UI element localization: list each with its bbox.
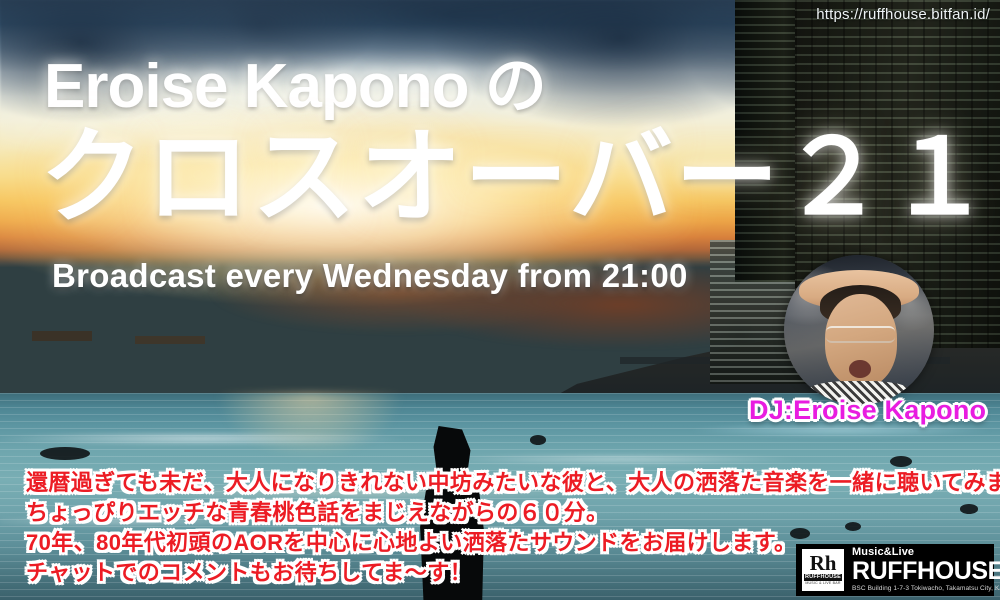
logo-text-group: Music&Live RUFFHOUSE BSC Building 1-7-3 … xyxy=(852,547,1000,593)
ruffhouse-logo[interactable]: Rh RUFFHOUSE MUSIC & LIVE BAR Music&Live… xyxy=(796,544,994,596)
monogram-letters: Rh xyxy=(810,554,837,574)
surfer-silhouette xyxy=(890,456,912,467)
page-title-japanese: クロスオーバー２１ xyxy=(40,126,993,230)
logo-brand-name: RUFFHOUSE xyxy=(852,558,1000,584)
description-line: 還暦過ぎても未だ、大人になりきれない中坊みたいな彼と、大人の洒落た音楽を一緒に聴… xyxy=(26,468,976,498)
glasses-icon xyxy=(826,326,895,344)
mouth xyxy=(849,360,872,378)
ruffhouse-monogram-icon: Rh RUFFHOUSE MUSIC & LIVE BAR xyxy=(802,549,844,591)
dj-name-label: DJ:Eroise Kapono xyxy=(749,395,986,426)
promo-poster: https://ruffhouse.bitfan.id/ Eroise Kapo… xyxy=(0,0,1000,600)
dj-avatar xyxy=(784,255,934,405)
broadcast-schedule: Broadcast every Wednesday from 21:00 xyxy=(52,257,688,295)
site-url[interactable]: https://ruffhouse.bitfan.id/ xyxy=(816,6,990,23)
page-title-english: Eroise Kapono の xyxy=(44,56,546,118)
monogram-wordmark: RUFFHOUSE xyxy=(804,574,842,581)
monogram-subtext: MUSIC & LIVE BAR xyxy=(805,581,840,586)
distant-ship-icon xyxy=(32,331,92,341)
description-line: ちょっぴりエッチな青春桃色話をまじえながらの６０分。 xyxy=(26,498,976,528)
surfer-silhouette xyxy=(530,435,546,445)
distant-ship-icon xyxy=(135,336,205,344)
logo-address: BSC Building 1-7-3 Tokiwacho, Takamatsu … xyxy=(852,586,1000,593)
